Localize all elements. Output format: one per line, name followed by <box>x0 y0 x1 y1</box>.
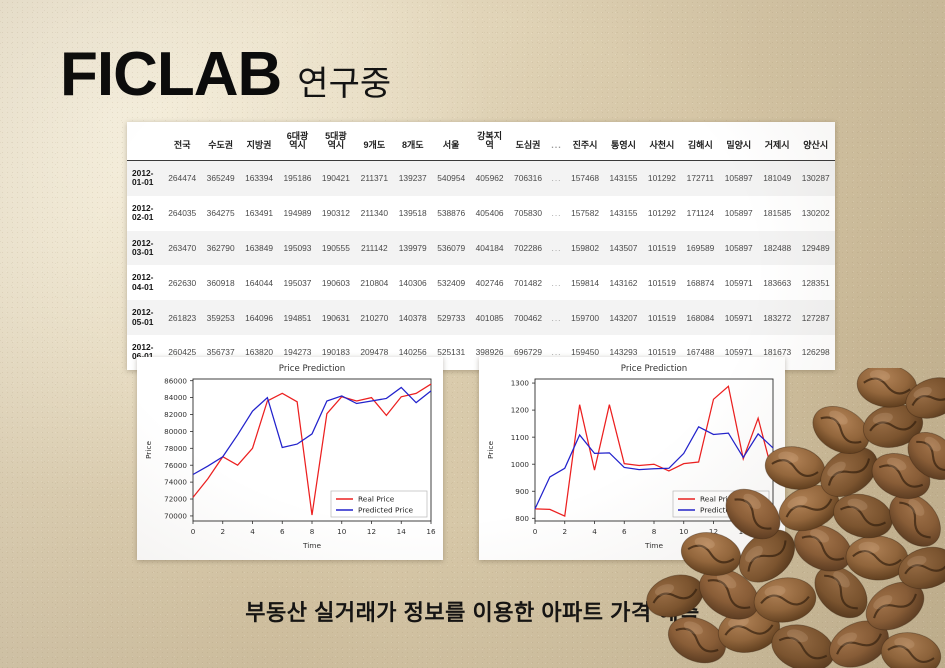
table-cell: 700462 <box>509 300 547 335</box>
table-cell: 163394 <box>240 160 278 195</box>
table-cell: 190312 <box>317 196 355 231</box>
chart-y-tick-label: 84000 <box>164 393 187 402</box>
table-cell: 190421 <box>317 160 355 195</box>
table-cell: 263470 <box>163 231 201 266</box>
table-cell: 171124 <box>681 196 719 231</box>
coffee-bean <box>894 541 945 595</box>
table-column-header: 강복지 역 <box>470 122 508 160</box>
table-cell: 159814 <box>566 265 604 300</box>
table-column-header: 5대광 역시 <box>317 122 355 160</box>
chart-x-axis-label: Time <box>644 541 664 550</box>
chart-card-right: Price Prediction800900100011001200130002… <box>479 357 785 560</box>
table-cell: 159802 <box>566 231 604 266</box>
table-column-header: 6대광 역시 <box>278 122 316 160</box>
coffee-bean <box>828 488 897 545</box>
table-cell: 211340 <box>355 196 393 231</box>
table-cell: 182488 <box>758 231 796 266</box>
chart-x-tick-label: 14 <box>739 527 749 536</box>
table-header: 전국수도권지방권6대광 역시5대광 역시9개도8개도서울강복지 역도심권...진… <box>127 122 835 160</box>
chart-y-tick-label: 70000 <box>164 512 187 521</box>
table-cell: 195186 <box>278 160 316 195</box>
table-column-header: 서울 <box>432 122 470 160</box>
chart-y-tick-label: 900 <box>515 487 529 496</box>
brand-logo-text: FICLAB <box>60 44 281 106</box>
data-table-card: 전국수도권지방권6대광 역시5대광 역시9개도8개도서울강복지 역도심권...진… <box>127 122 835 370</box>
table-cell: 157582 <box>566 196 604 231</box>
coffee-bean <box>787 516 859 580</box>
table-cell: 360918 <box>201 265 239 300</box>
legend-label-real-price: Real Price <box>358 495 395 504</box>
table-column-header: ... <box>547 122 566 160</box>
chart-x-tick-label: 16 <box>426 527 436 536</box>
table-cell: 105971 <box>720 300 758 335</box>
table-cell: 168084 <box>681 300 719 335</box>
table-cell: 164096 <box>240 300 278 335</box>
legend-label-predicted-price: Predicted Price <box>700 506 756 515</box>
table-row: 2012- 04-0126263036091816404419503719060… <box>127 265 835 300</box>
table-cell: 359253 <box>201 300 239 335</box>
chart-x-tick-label: 10 <box>337 527 347 536</box>
slide-caption: 부동산 실거래가 정보를 이용한 아파트 가격 예측 <box>0 595 945 627</box>
table-cell: 101292 <box>643 160 681 195</box>
table-cell: 210270 <box>355 300 393 335</box>
table-column-header: 진주시 <box>566 122 604 160</box>
table-row: 2012- 02-0126403536427516349119498919031… <box>127 196 835 231</box>
chart-y-tick-label: 1100 <box>511 433 530 442</box>
table-cell: 163849 <box>240 231 278 266</box>
table-row: 2012- 05-0126182335925316409619485119063… <box>127 300 835 335</box>
chart-y-tick-label: 78000 <box>164 444 187 453</box>
legend-label-predicted-price: Predicted Price <box>358 506 414 515</box>
chart-y-tick-label: 86000 <box>164 376 187 385</box>
chart-x-tick-label: 4 <box>592 527 597 536</box>
table-cell: 130287 <box>796 160 835 195</box>
table-row-index: 2012- 04-01 <box>127 265 163 300</box>
chart-y-tick-label: 82000 <box>164 410 187 419</box>
table-column-header: 사천시 <box>643 122 681 160</box>
table-cell: 211371 <box>355 160 393 195</box>
table-cell: 101519 <box>643 265 681 300</box>
table-cell: 195093 <box>278 231 316 266</box>
chart-y-tick-label: 72000 <box>164 495 187 504</box>
table-cell: 139979 <box>394 231 432 266</box>
chart-y-tick-label: 74000 <box>164 478 187 487</box>
table-cell: ... <box>547 300 566 335</box>
table-cell: 130202 <box>796 196 835 231</box>
table-cell: 126298 <box>796 335 835 370</box>
chart-y-axis-label: Price <box>144 441 153 459</box>
table-cell: 405406 <box>470 196 508 231</box>
table-cell: 536079 <box>432 231 470 266</box>
chart-x-tick-label: 10 <box>679 527 689 536</box>
table-cell: 183272 <box>758 300 796 335</box>
chart-x-tick-label: 6 <box>280 527 285 536</box>
table-cell: 143162 <box>604 265 642 300</box>
coffee-bean <box>899 423 945 490</box>
table-row-index: 2012- 01-01 <box>127 160 163 195</box>
table-cell: 190603 <box>317 265 355 300</box>
table-cell: 190631 <box>317 300 355 335</box>
table-column-header: 전국 <box>163 122 201 160</box>
chart-x-tick-label: 8 <box>310 527 315 536</box>
slide-canvas: FICLAB 연구중 전국수도권지방권6대광 역시5대광 역시9개도8개도서울강… <box>0 0 945 668</box>
chart-y-tick-label: 1200 <box>511 406 530 415</box>
table-cell: 139518 <box>394 196 432 231</box>
table-cell: 159700 <box>566 300 604 335</box>
table-cell: 194851 <box>278 300 316 335</box>
table-cell: 101519 <box>643 231 681 266</box>
table-cell: 105897 <box>720 231 758 266</box>
table-column-header: 김해시 <box>681 122 719 160</box>
table-row-index: 2012- 05-01 <box>127 300 163 335</box>
table-cell: 262630 <box>163 265 201 300</box>
table-cell: 401085 <box>470 300 508 335</box>
price-prediction-chart-right: Price Prediction800900100011001200130002… <box>479 357 785 560</box>
chart-x-tick-label: 4 <box>250 527 255 536</box>
table-column-header: 수도권 <box>201 122 239 160</box>
chart-x-tick-label: 6 <box>622 527 627 536</box>
table-cell: 706316 <box>509 160 547 195</box>
table-cell: 195037 <box>278 265 316 300</box>
chart-x-tick-label: 0 <box>533 527 538 536</box>
table-cell: 538876 <box>432 196 470 231</box>
table-cell: ... <box>547 160 566 195</box>
table-cell: 404184 <box>470 231 508 266</box>
table-cell: 405962 <box>470 160 508 195</box>
table-cell: 702286 <box>509 231 547 266</box>
legend-label-real-price: Real Price <box>700 495 737 504</box>
table-cell: 261823 <box>163 300 201 335</box>
table-row-index: 2012- 02-01 <box>127 196 163 231</box>
table-cell: 190555 <box>317 231 355 266</box>
table-cell: 143155 <box>604 160 642 195</box>
table-cell: 101292 <box>643 196 681 231</box>
table-cell: 140378 <box>394 300 432 335</box>
coffee-bean <box>878 628 944 668</box>
chart-y-axis-label: Price <box>486 441 495 459</box>
chart-x-tick-label: 16 <box>768 527 778 536</box>
coffee-bean <box>879 484 945 557</box>
table-cell: 157468 <box>566 160 604 195</box>
table-column-header: 8개도 <box>394 122 432 160</box>
table-cell: 181585 <box>758 196 796 231</box>
table-body: 2012- 01-0126447436524916339419518619042… <box>127 160 835 369</box>
chart-y-tick-label: 1300 <box>511 379 530 388</box>
price-data-table: 전국수도권지방권6대광 역시5대광 역시9개도8개도서울강복지 역도심권...진… <box>127 122 835 370</box>
chart-x-tick-label: 14 <box>397 527 407 536</box>
table-cell: 540954 <box>432 160 470 195</box>
table-column-header: 9개도 <box>355 122 393 160</box>
table-column-header: 지방권 <box>240 122 278 160</box>
table-index-header <box>127 122 163 160</box>
coffee-bean <box>854 368 919 411</box>
table-cell: 194989 <box>278 196 316 231</box>
chart-x-tick-label: 2 <box>220 527 225 536</box>
table-cell: 129489 <box>796 231 835 266</box>
table-cell: 211142 <box>355 231 393 266</box>
table-cell: 143507 <box>604 231 642 266</box>
coffee-bean <box>900 371 945 426</box>
coffee-bean <box>812 437 887 506</box>
table-cell: 127287 <box>796 300 835 335</box>
table-column-header: 도심권 <box>509 122 547 160</box>
chart-x-tick-label: 12 <box>367 527 376 536</box>
chart-x-tick-label: 8 <box>652 527 657 536</box>
table-cell: 163491 <box>240 196 278 231</box>
table-row-index: 2012- 03-01 <box>127 231 163 266</box>
table-column-header: 밀양시 <box>720 122 758 160</box>
table-column-header: 거제시 <box>758 122 796 160</box>
table-cell: 364275 <box>201 196 239 231</box>
chart-y-tick-label: 80000 <box>164 427 187 436</box>
chart-title: Price Prediction <box>279 364 345 374</box>
chart-x-axis-label: Time <box>302 541 322 550</box>
table-cell: 143155 <box>604 196 642 231</box>
table-cell: ... <box>547 265 566 300</box>
table-cell: 172711 <box>681 160 719 195</box>
table-cell: 402746 <box>470 265 508 300</box>
table-cell: 169589 <box>681 231 719 266</box>
table-cell: ... <box>547 196 566 231</box>
table-cell: 362790 <box>201 231 239 266</box>
chart-x-tick-label: 12 <box>709 527 718 536</box>
table-cell: 264035 <box>163 196 201 231</box>
table-cell: ... <box>547 231 566 266</box>
table-cell: 143207 <box>604 300 642 335</box>
chart-y-tick-label: 1000 <box>511 460 530 469</box>
chart-series-predicted-price <box>193 387 431 474</box>
table-cell: 264474 <box>163 160 201 195</box>
chart-y-tick-label: 800 <box>515 514 529 523</box>
slide-title: FICLAB 연구중 <box>60 44 391 106</box>
coffee-bean <box>859 399 926 453</box>
table-cell: 139237 <box>394 160 432 195</box>
brand-subtitle: 연구중 <box>297 67 391 101</box>
table-cell: 532409 <box>432 265 470 300</box>
table-cell: 183663 <box>758 265 796 300</box>
price-prediction-chart-left: Price Prediction700007200074000760007800… <box>137 357 443 560</box>
table-cell: 128351 <box>796 265 835 300</box>
table-cell: 105897 <box>720 196 758 231</box>
coffee-bean <box>805 397 878 463</box>
coffee-bean <box>865 445 936 506</box>
table-cell: 105971 <box>720 265 758 300</box>
coffee-bean <box>845 534 910 582</box>
table-cell: 365249 <box>201 160 239 195</box>
table-cell: 529733 <box>432 300 470 335</box>
table-cell: 140306 <box>394 265 432 300</box>
table-cell: 701482 <box>509 265 547 300</box>
table-column-header: 통영시 <box>604 122 642 160</box>
table-cell: 168874 <box>681 265 719 300</box>
chart-y-tick-label: 76000 <box>164 461 187 470</box>
table-cell: 705830 <box>509 196 547 231</box>
table-cell: 101519 <box>643 300 681 335</box>
table-cell: 105897 <box>720 160 758 195</box>
chart-x-tick-label: 2 <box>562 527 567 536</box>
table-row: 2012- 03-0126347036279016384919509319055… <box>127 231 835 266</box>
table-cell: 210804 <box>355 265 393 300</box>
table-cell: 164044 <box>240 265 278 300</box>
chart-card-left: Price Prediction700007200074000760007800… <box>137 357 443 560</box>
table-cell: 181049 <box>758 160 796 195</box>
table-column-header: 양산시 <box>796 122 835 160</box>
table-header-row: 전국수도권지방권6대광 역시5대광 역시9개도8개도서울강복지 역도심권...진… <box>127 122 835 160</box>
chart-title: Price Prediction <box>621 364 687 374</box>
table-row: 2012- 01-0126447436524916339419518619042… <box>127 160 835 195</box>
chart-x-tick-label: 0 <box>191 527 196 536</box>
